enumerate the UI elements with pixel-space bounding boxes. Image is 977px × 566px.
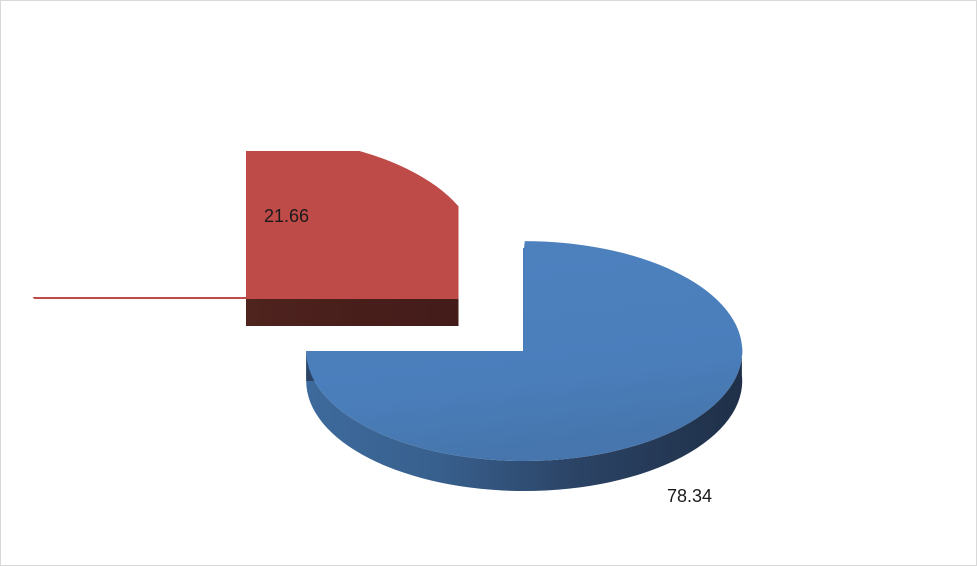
plot-clip-top xyxy=(1,1,977,151)
chart-canvas: Share holding pattern Promoters (Individ… xyxy=(0,0,977,566)
data-label-red: 21.66 xyxy=(264,205,309,227)
pie-chart-plot: 21.66 78.34 xyxy=(1,1,977,566)
pie-slice-red-side-wall xyxy=(246,299,459,326)
data-label-blue: 78.34 xyxy=(667,485,712,507)
